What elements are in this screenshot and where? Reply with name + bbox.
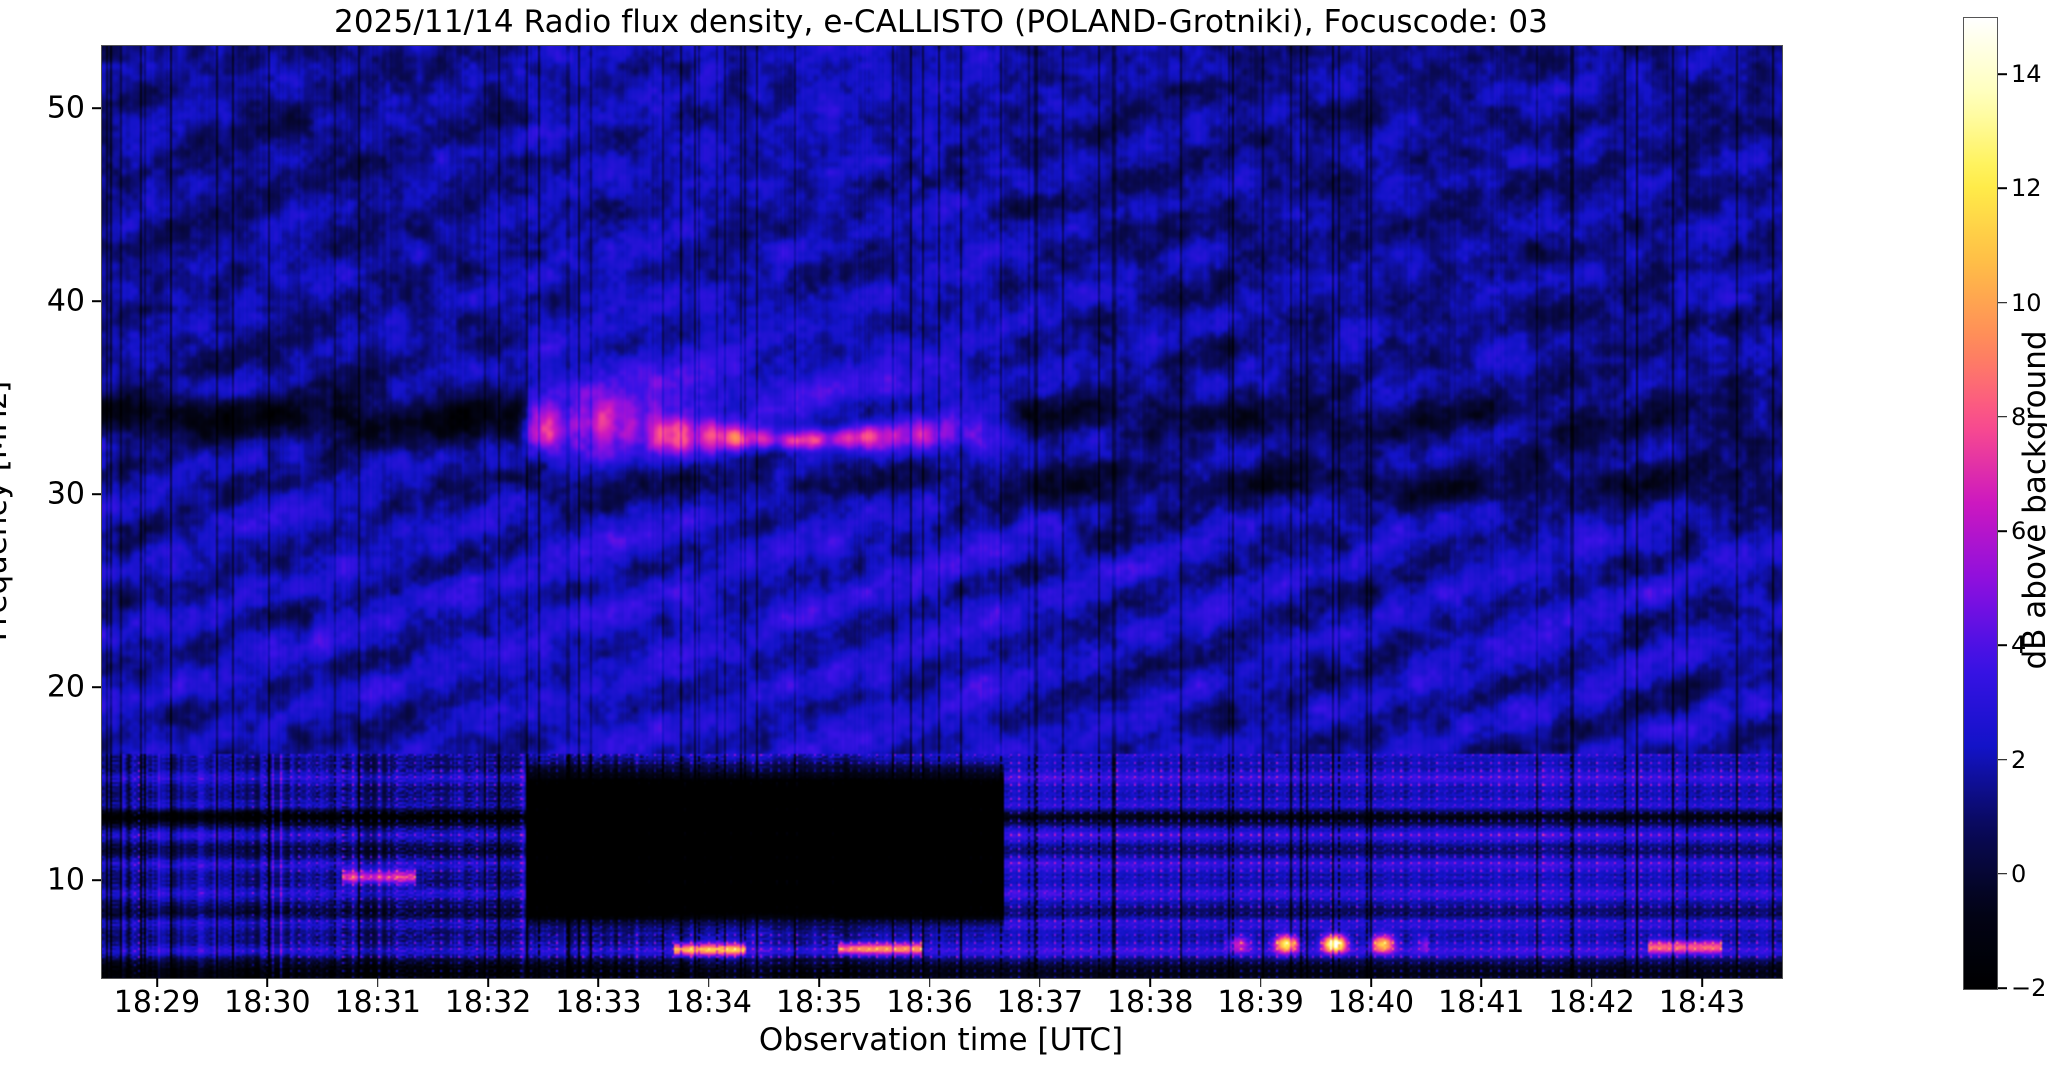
- x-tick-label: 18:38: [1107, 985, 1193, 1020]
- spectrogram-canvas-wrap: [102, 46, 1782, 978]
- x-tick-label: 18:37: [997, 985, 1083, 1020]
- x-tick-label: 18:43: [1659, 985, 1745, 1020]
- y-tick-mark: [92, 493, 101, 495]
- x-tick-label: 18:39: [1217, 985, 1303, 1020]
- y-axis-label: Frequency [MHz]: [0, 381, 14, 642]
- colorbar-tick-label: 0: [2011, 860, 2026, 888]
- colorbar-tick-mark: [1998, 759, 2007, 761]
- x-tick-label: 18:34: [666, 985, 752, 1020]
- colorbar-tick-mark: [1998, 987, 2007, 989]
- colorbar-tick-label: −2: [2011, 974, 2046, 1002]
- colorbar-tick-mark: [1998, 302, 2007, 304]
- spectrogram-image: [102, 46, 1782, 978]
- colorbar-gradient: [1964, 18, 1997, 989]
- y-tick-label: 50: [47, 91, 85, 126]
- x-tick-label: 18:36: [886, 985, 972, 1020]
- y-tick-mark: [92, 686, 101, 688]
- y-tick-label: 10: [47, 863, 85, 898]
- colorbar-tick-mark: [1998, 73, 2007, 75]
- x-tick-label: 18:33: [555, 985, 641, 1020]
- y-tick-label: 40: [47, 284, 85, 319]
- y-tick-mark: [92, 107, 101, 109]
- colorbar-tick-mark: [1998, 873, 2007, 875]
- x-tick-label: 18:31: [334, 985, 420, 1020]
- colorbar-tick-label: 10: [2011, 289, 2042, 317]
- x-tick-label: 18:29: [114, 985, 200, 1020]
- x-tick-label: 18:41: [1438, 985, 1524, 1020]
- colorbar-tick-mark: [1998, 416, 2007, 418]
- page-title: 2025/11/14 Radio flux density, e-CALLIST…: [101, 4, 1781, 40]
- colorbar-tick-mark: [1998, 188, 2007, 190]
- spectrogram-plot: [101, 45, 1783, 979]
- colorbar-label: dB above background: [2017, 330, 2047, 669]
- y-tick-mark: [92, 300, 101, 302]
- colorbar-tick-label: 2: [2011, 746, 2026, 774]
- colorbar-tick-label: 14: [2011, 60, 2042, 88]
- x-tick-label: 18:40: [1328, 985, 1414, 1020]
- colorbar-tick-label: 12: [2011, 174, 2042, 202]
- y-tick-label: 20: [47, 670, 85, 705]
- x-tick-label: 18:32: [445, 985, 531, 1020]
- y-tick-label: 30: [47, 477, 85, 512]
- colorbar-tick-mark: [1998, 644, 2007, 646]
- colorbar: [1963, 17, 1998, 990]
- y-tick-mark: [92, 879, 101, 881]
- x-tick-label: 18:35: [776, 985, 862, 1020]
- x-tick-label: 18:30: [224, 985, 310, 1020]
- x-tick-label: 18:42: [1548, 985, 1634, 1020]
- x-axis-label: Observation time [UTC]: [759, 1022, 1123, 1058]
- colorbar-tick-mark: [1998, 530, 2007, 532]
